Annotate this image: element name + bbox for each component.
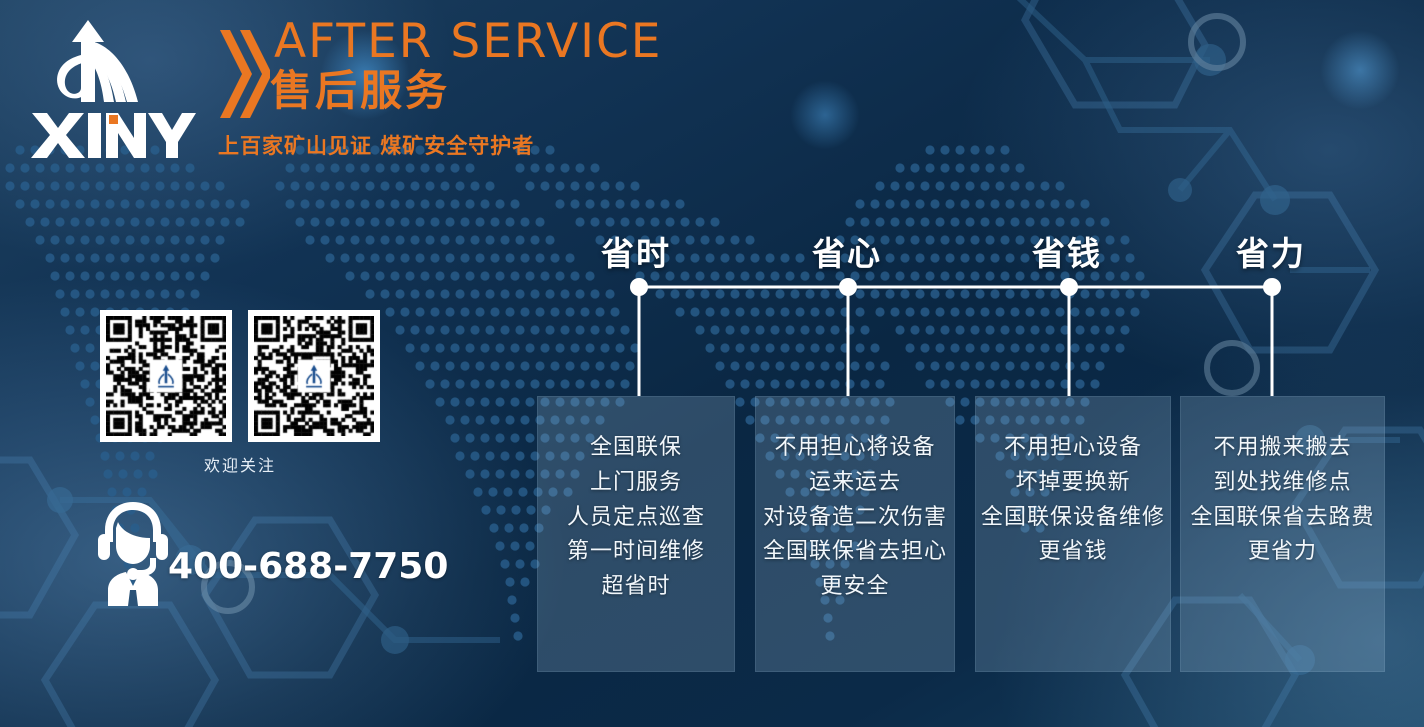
card-line: 更安全 — [820, 570, 889, 605]
card-line: 第一时间维修 — [567, 535, 705, 570]
card-line: 超省时 — [601, 570, 670, 605]
card-shengshi: 全国联保上门服务人员定点巡查第一时间维修超省时 — [537, 396, 735, 672]
card-line: 更省力 — [1248, 535, 1317, 570]
card-line: 坏掉要换新 — [1015, 466, 1130, 501]
timeline-label-3: 省钱 — [1032, 237, 1102, 270]
card-line: 全国联保 — [590, 431, 682, 466]
card-line: 全国联保设备维修 — [981, 501, 1165, 536]
timeline-label-2: 省心 — [812, 237, 882, 270]
timeline-label-1: 省时 — [601, 237, 671, 270]
card-shengxin: 不用担心将设备运来运去对设备造二次伤害全国联保省去担心更安全 — [755, 396, 955, 672]
card-line: 人员定点巡查 — [567, 501, 705, 536]
timeline-label-4: 省力 — [1236, 237, 1306, 270]
card-line: 全国联保省去担心 — [763, 535, 947, 570]
card-line: 不用担心将设备 — [774, 431, 935, 466]
card-shengli: 不用搬来搬去到处找维修点全国联保省去路费更省力 — [1180, 396, 1385, 672]
card-line: 更省钱 — [1038, 535, 1107, 570]
card-line: 不用搬来搬去 — [1213, 431, 1351, 466]
card-line: 到处找维修点 — [1213, 466, 1351, 501]
card-line: 运来运去 — [809, 466, 901, 501]
card-line: 对设备造二次伤害 — [763, 501, 947, 536]
card-shengqian: 不用担心设备坏掉要换新全国联保设备维修更省钱 — [975, 396, 1171, 672]
card-line: 全国联保省去路费 — [1190, 501, 1374, 536]
card-line: 上门服务 — [590, 466, 682, 501]
card-line: 不用担心设备 — [1004, 431, 1142, 466]
poster-canvas: AFTER SERVICE 售后服务 上百家矿山见证 煤矿安全守护者 欢迎关注 … — [0, 0, 1424, 727]
